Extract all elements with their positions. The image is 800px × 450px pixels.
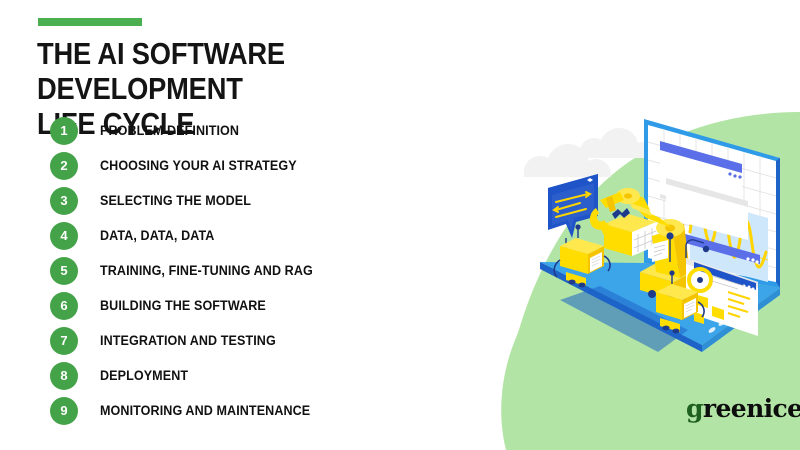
step-label: DEPLOYMENT xyxy=(100,368,188,383)
list-item[interactable]: 1 PROBLEM DEFINITION xyxy=(50,113,480,148)
logo-initial: g xyxy=(686,394,703,423)
list-item[interactable]: 2 CHOOSING YOUR AI STRATEGY xyxy=(50,148,480,183)
list-item[interactable]: 9 MONITORING AND MAINTENANCE xyxy=(50,393,480,428)
list-item[interactable]: 6 BUILDING THE SOFTWARE xyxy=(50,288,480,323)
accent-bar xyxy=(38,18,142,26)
step-number-badge: 5 xyxy=(50,257,78,285)
step-label: PROBLEM DEFINITION xyxy=(100,123,239,138)
step-label: TRAINING, FINE-TUNING AND RAG xyxy=(100,263,313,278)
list-item[interactable]: 8 DEPLOYMENT xyxy=(50,358,480,393)
greenice-logo: greenice xyxy=(686,396,800,421)
step-number-badge: 1 xyxy=(50,117,78,145)
list-item[interactable]: 4 DATA, DATA, DATA xyxy=(50,218,480,253)
step-label: SELECTING THE MODEL xyxy=(100,193,251,208)
step-number-badge: 2 xyxy=(50,152,78,180)
step-label: BUILDING THE SOFTWARE xyxy=(100,298,266,313)
slide-canvas: THE AI SOFTWARE DEVELOPMENT LIFE CYCLE 1… xyxy=(0,0,800,450)
list-item[interactable]: 5 TRAINING, FINE-TUNING AND RAG xyxy=(50,253,480,288)
step-number-badge: 4 xyxy=(50,222,78,250)
step-number-badge: 6 xyxy=(50,292,78,320)
step-label: MONITORING AND MAINTENANCE xyxy=(100,403,310,418)
step-label: INTEGRATION AND TESTING xyxy=(100,333,276,348)
step-label: CHOOSING YOUR AI STRATEGY xyxy=(100,158,297,173)
list-item[interactable]: 3 SELECTING THE MODEL xyxy=(50,183,480,218)
step-label: DATA, DATA, DATA xyxy=(100,228,214,243)
steps-list: 1 PROBLEM DEFINITION 2 CHOOSING YOUR AI … xyxy=(50,113,480,428)
logo-rest: reenice xyxy=(703,394,800,423)
step-number-badge: 8 xyxy=(50,362,78,390)
step-number-badge: 3 xyxy=(50,187,78,215)
list-item[interactable]: 7 INTEGRATION AND TESTING xyxy=(50,323,480,358)
step-number-badge: 9 xyxy=(50,397,78,425)
step-number-badge: 7 xyxy=(50,327,78,355)
